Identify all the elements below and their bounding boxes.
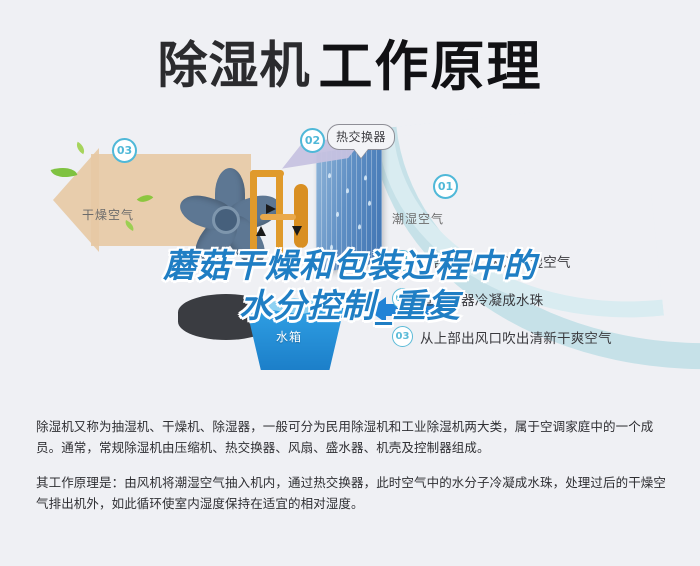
step-text-03: 从上部出风口吹出清新干爽空气 <box>420 327 612 347</box>
flow-arrow-right-icon <box>266 204 276 214</box>
step-number-02: 02 <box>392 288 413 309</box>
step-text-02: 过蒸发器冷凝成水珠 <box>420 289 543 309</box>
step-list: 01 下部进风口吸入潮湿空气 02 过蒸发器冷凝成水珠 03 从上部出风口吹出清… <box>392 250 692 364</box>
humid-air-label: 潮湿空气 <box>392 210 444 227</box>
compressor-cylinder <box>294 184 308 248</box>
diagram-badge-01: 01 <box>433 174 458 199</box>
step-number-03: 03 <box>392 326 413 347</box>
step-item-03: 03 从上部出风口吹出清新干爽空气 <box>392 326 692 347</box>
step-item-01: 01 下部进风口吸入潮湿空气 <box>392 250 692 271</box>
flow-arrow-down-icon <box>292 226 302 236</box>
heat-exchanger-callout: 热交换器 <box>327 124 395 150</box>
step-text-01: 下部进风口吸入潮湿空气 <box>420 251 571 271</box>
water-tank-label: 水箱 <box>276 328 302 345</box>
page-title: 除湿机工作原理 <box>0 22 700 101</box>
compressor-piping <box>246 164 318 268</box>
page-title-part2: 工作原理 <box>319 35 543 98</box>
body-copy: 除湿机又称为抽湿机、干燥机、除湿器，一般可分为民用除湿机和工业除湿机两大类，属于… <box>36 416 670 528</box>
evaporator-coil <box>316 143 382 273</box>
page-title-part1: 除湿机 <box>158 37 311 95</box>
infographic-page: 除湿机工作原理 干燥空气 <box>0 0 700 566</box>
refrigerant-pipe <box>260 214 296 220</box>
step-item-02: 02 过蒸发器冷凝成水珠 <box>392 288 692 309</box>
diagram-badge-02: 02 <box>300 128 325 153</box>
step-number-01: 01 <box>392 250 413 271</box>
fan-hub <box>212 206 240 234</box>
body-paragraph-2: 其工作原理是：由风机将潮湿空气抽入机内，通过热交换器，此时空气中的水分子冷凝成水… <box>36 472 670 514</box>
evaporator-fins <box>316 143 382 273</box>
diagram-badge-03: 03 <box>112 138 137 163</box>
refrigerant-pipe <box>250 170 257 262</box>
flow-arrow-up-icon <box>256 226 266 236</box>
body-paragraph-1: 除湿机又称为抽湿机、干燥机、除湿器，一般可分为民用除湿机和工业除湿机两大类，属于… <box>36 416 670 458</box>
refrigerant-pipe <box>250 170 284 177</box>
water-tank: 水箱 <box>240 298 352 372</box>
